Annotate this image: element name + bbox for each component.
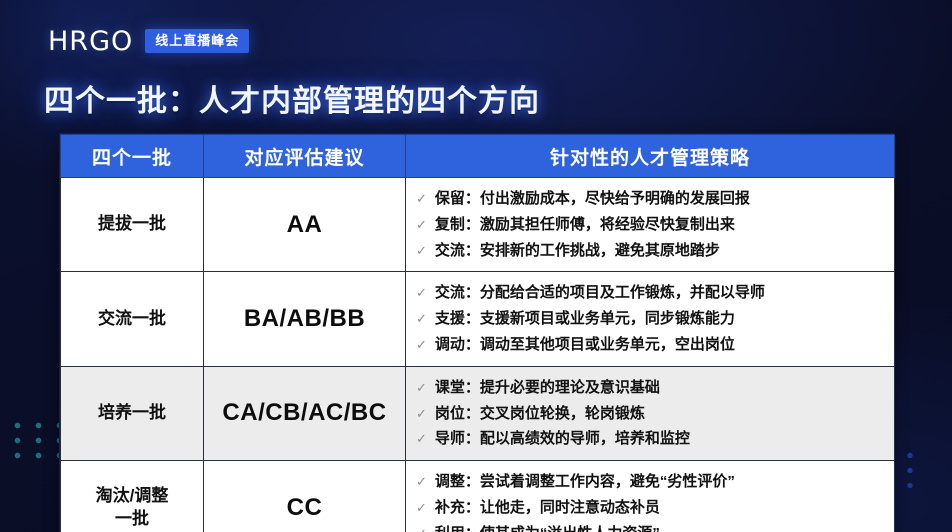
strategy-text: 复制：激励其担任师傅，将经验尽快复制出来 (435, 212, 735, 238)
hrgo-logo: HRGO (48, 28, 133, 55)
row-strategy-cell: ✓ 调整：尝试着调整工作内容，避免“劣性评价” ✓ 补充：让他走，同时注意动态补… (406, 461, 895, 532)
strategy-text: 岗位：交叉岗位轮换，轮岗锻炼 (435, 401, 645, 427)
brand-bar: HRGO 线上直播峰会 (48, 24, 249, 58)
strategy-list: ✓ 交流：分配给合适的项目及工作锻炼，并配以导师 ✓ 支援：支援新项目或业务单元… (416, 280, 886, 357)
strategy-text: 导师：配以高绩效的导师，培养和监控 (435, 426, 690, 452)
check-icon: ✓ (416, 428, 427, 450)
strategy-list: ✓ 调整：尝试着调整工作内容，避免“劣性评价” ✓ 补充：让他走，同时注意动态补… (416, 469, 886, 532)
check-icon: ✓ (416, 188, 427, 210)
strategy-text: 调整：尝试着调整工作内容，避免“劣性评价” (435, 469, 735, 495)
row-assessment-code: AA (204, 178, 406, 272)
summit-badge: 线上直播峰会 (145, 29, 249, 53)
row-assessment-code: CA/CB/AC/BC (204, 366, 406, 460)
list-item: ✓ 保留：付出激励成本，尽快给予明确的发展回报 (416, 186, 886, 212)
list-item: ✓ 导师：配以高绩效的导师，培养和监控 (416, 426, 886, 452)
table-body: 提拔一批 AA ✓ 保留：付出激励成本，尽快给予明确的发展回报 ✓ 复制：激励其… (61, 178, 895, 532)
list-item: ✓ 交流：安排新的工作挑战，避免其原地踏步 (416, 238, 886, 264)
strategy-text: 交流：分配给合适的项目及工作锻炼，并配以导师 (435, 280, 765, 306)
check-icon: ✓ (416, 240, 427, 262)
list-item: ✓ 调动：调动至其他项目或业务单元，空出岗位 (416, 332, 886, 358)
row-assessment-code: CC (204, 461, 406, 532)
check-icon: ✓ (416, 403, 427, 425)
strategy-text: 课堂：提升必要的理论及意识基础 (435, 375, 660, 401)
row-category-name: 交流一批 (61, 272, 204, 366)
check-icon: ✓ (416, 282, 427, 304)
list-item: ✓ 补充：让他走，同时注意动态补员 (416, 495, 886, 521)
strategy-text: 利用：使其成为“溢出性人力资源” (435, 521, 660, 532)
check-icon: ✓ (416, 471, 427, 493)
column-header-assessment: 对应评估建议 (204, 135, 406, 178)
strategy-text: 补充：让他走，同时注意动态补员 (435, 495, 660, 521)
check-icon: ✓ (416, 523, 427, 532)
table-row: 培养一批 CA/CB/AC/BC ✓ 课堂：提升必要的理论及意识基础 ✓ 岗位：… (61, 366, 895, 460)
table-header-row: 四个一批 对应评估建议 针对性的人才管理策略 (61, 135, 895, 178)
strategy-list: ✓ 课堂：提升必要的理论及意识基础 ✓ 岗位：交叉岗位轮换，轮岗锻炼 ✓ 导师：… (416, 375, 886, 452)
check-icon: ✓ (416, 308, 427, 330)
slide-root: HRGO 线上直播峰会 四个一批：人才内部管理的四个方向 四个一批 对应评估建议… (0, 0, 952, 532)
strategy-text: 调动：调动至其他项目或业务单元，空出岗位 (435, 332, 735, 358)
list-item: ✓ 课堂：提升必要的理论及意识基础 (416, 375, 886, 401)
table-row: 交流一批 BA/AB/BB ✓ 交流：分配给合适的项目及工作锻炼，并配以导师 ✓… (61, 272, 895, 366)
list-item: ✓ 调整：尝试着调整工作内容，避免“劣性评价” (416, 469, 886, 495)
row-assessment-code: BA/AB/BB (204, 272, 406, 366)
check-icon: ✓ (416, 497, 427, 519)
list-item: ✓ 利用：使其成为“溢出性人力资源” (416, 521, 886, 532)
column-header-category: 四个一批 (61, 135, 204, 178)
row-category-name: 提拔一批 (61, 178, 204, 272)
row-strategy-cell: ✓ 课堂：提升必要的理论及意识基础 ✓ 岗位：交叉岗位轮换，轮岗锻炼 ✓ 导师：… (406, 366, 895, 460)
dot-grid-left-decoration (0, 418, 64, 462)
table-row: 淘汰/调整 一批 CC ✓ 调整：尝试着调整工作内容，避免“劣性评价” ✓ 补充… (61, 461, 895, 532)
row-category-name: 淘汰/调整 一批 (61, 461, 204, 532)
list-item: ✓ 岗位：交叉岗位轮换，轮岗锻炼 (416, 401, 886, 427)
check-icon: ✓ (416, 377, 427, 399)
dot-grid-right-decoration (902, 448, 918, 494)
check-icon: ✓ (416, 334, 427, 356)
list-item: ✓ 交流：分配给合适的项目及工作锻炼，并配以导师 (416, 280, 886, 306)
column-header-strategy: 针对性的人才管理策略 (406, 135, 895, 178)
strategy-text: 支援：支援新项目或业务单元，同步锻炼能力 (435, 306, 735, 332)
page-title: 四个一批：人才内部管理的四个方向 (44, 76, 540, 120)
talent-matrix-table: 四个一批 对应评估建议 针对性的人才管理策略 提拔一批 AA ✓ 保留：付出激励… (59, 133, 893, 532)
row-strategy-cell: ✓ 保留：付出激励成本，尽快给予明确的发展回报 ✓ 复制：激励其担任师傅，将经验… (406, 178, 895, 272)
strategy-text: 保留：付出激励成本，尽快给予明确的发展回报 (435, 186, 750, 212)
strategy-text: 交流：安排新的工作挑战，避免其原地踏步 (435, 238, 720, 264)
strategy-list: ✓ 保留：付出激励成本，尽快给予明确的发展回报 ✓ 复制：激励其担任师傅，将经验… (416, 186, 886, 263)
table-row: 提拔一批 AA ✓ 保留：付出激励成本，尽快给予明确的发展回报 ✓ 复制：激励其… (61, 178, 895, 272)
list-item: ✓ 复制：激励其担任师傅，将经验尽快复制出来 (416, 212, 886, 238)
list-item: ✓ 支援：支援新项目或业务单元，同步锻炼能力 (416, 306, 886, 332)
row-category-name: 培养一批 (61, 366, 204, 460)
row-strategy-cell: ✓ 交流：分配给合适的项目及工作锻炼，并配以导师 ✓ 支援：支援新项目或业务单元… (406, 272, 895, 366)
check-icon: ✓ (416, 214, 427, 236)
